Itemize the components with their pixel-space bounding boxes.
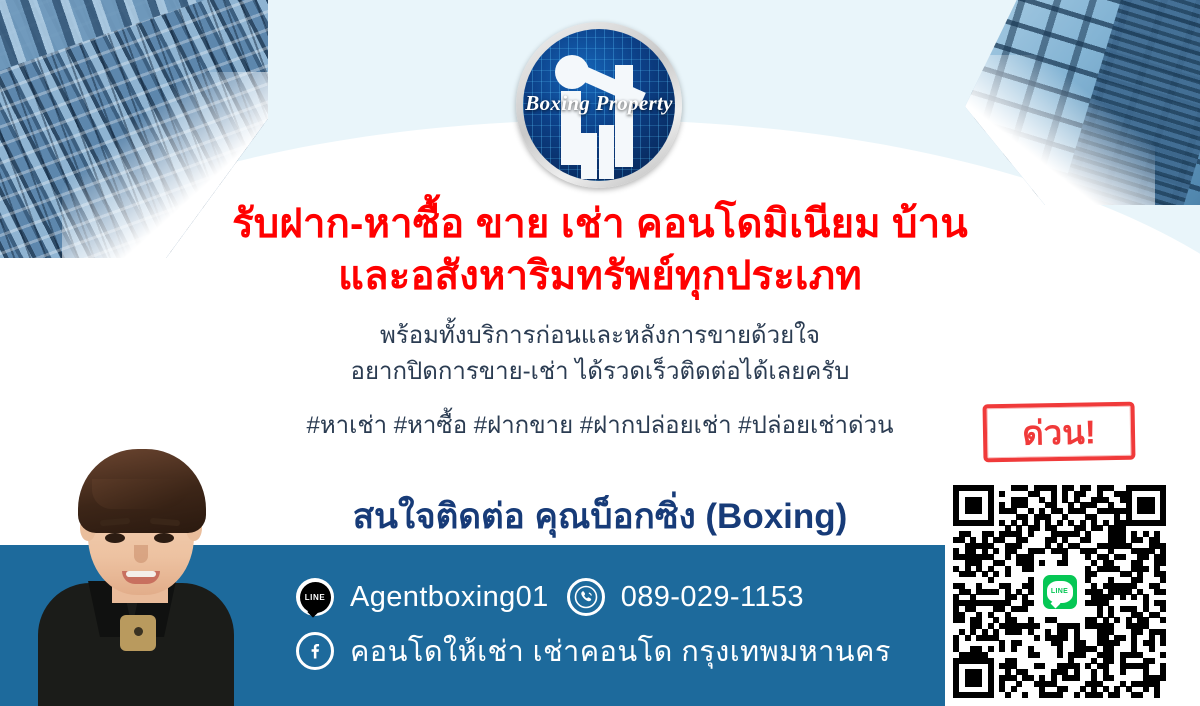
phone-number[interactable]: 089-029-1153 (621, 581, 804, 614)
agent-portrait (8, 415, 258, 706)
agent-teeth (126, 571, 156, 577)
brand-logo-text: Boxing Property (523, 91, 675, 116)
logo-base-right-icon (599, 125, 614, 179)
brand-logo-disc: Boxing Property (523, 29, 675, 181)
line-qr-badge-icon: LINE (1040, 572, 1080, 612)
line-icon[interactable]: LINE (296, 578, 334, 616)
logo-pillar-icon (615, 65, 633, 167)
brand-logo[interactable]: Boxing Property (516, 22, 682, 188)
promo-banner: Boxing Property รับฝาก-หาซื้อ ขาย เช่า ค… (0, 0, 1200, 706)
line-id[interactable]: Agentboxing01 (350, 581, 549, 614)
qr-panel: LINE (945, 480, 1174, 706)
headline: รับฝาก-หาซื้อ ขาย เช่า คอนโดมิเนียม บ้าน… (0, 198, 1200, 302)
contact-rows: LINE Agentboxing01 089-029-1153 คอนโดให้… (296, 570, 916, 678)
facebook-icon[interactable] (296, 632, 334, 670)
phone-icon[interactable] (567, 578, 605, 616)
agent-eye-right (154, 533, 174, 543)
subcopy: พร้อมทั้งบริการก่อนและหลังการขายด้วยใจ อ… (0, 318, 1200, 390)
headline-line-1: รับฝาก-หาซื้อ ขาย เช่า คอนโดมิเนียม บ้าน (232, 202, 968, 246)
line-qr-code[interactable]: LINE (953, 485, 1166, 698)
line-icon-label: LINE (305, 593, 326, 602)
facebook-page[interactable]: คอนโดให้เช่า เช่าคอนโด กรุงเทพมหานคร (350, 628, 891, 674)
line-qr-badge-label: LINE (1051, 588, 1068, 595)
subcopy-line-1: พร้อมทั้งบริการก่อนและหลังการขายด้วยใจ (0, 318, 1200, 354)
urgent-stamp: ด่วน! (983, 402, 1136, 463)
contact-row-line-phone: LINE Agentboxing01 089-029-1153 (296, 570, 916, 624)
agent-button (134, 627, 143, 636)
agent-fringe (92, 479, 192, 509)
agent-nose (134, 545, 148, 563)
contact-row-facebook: คอนโดให้เช่า เช่าคอนโด กรุงเทพมหานคร (296, 624, 916, 678)
subcopy-line-2: อยากปิดการขาย-เช่า ได้รวดเร็วติดต่อได้เล… (0, 354, 1200, 390)
headline-line-2: และอสังหาริมทรัพย์ทุกประเภท (0, 250, 1200, 302)
agent-eye-left (105, 533, 125, 543)
logo-base-left-icon (581, 133, 597, 179)
